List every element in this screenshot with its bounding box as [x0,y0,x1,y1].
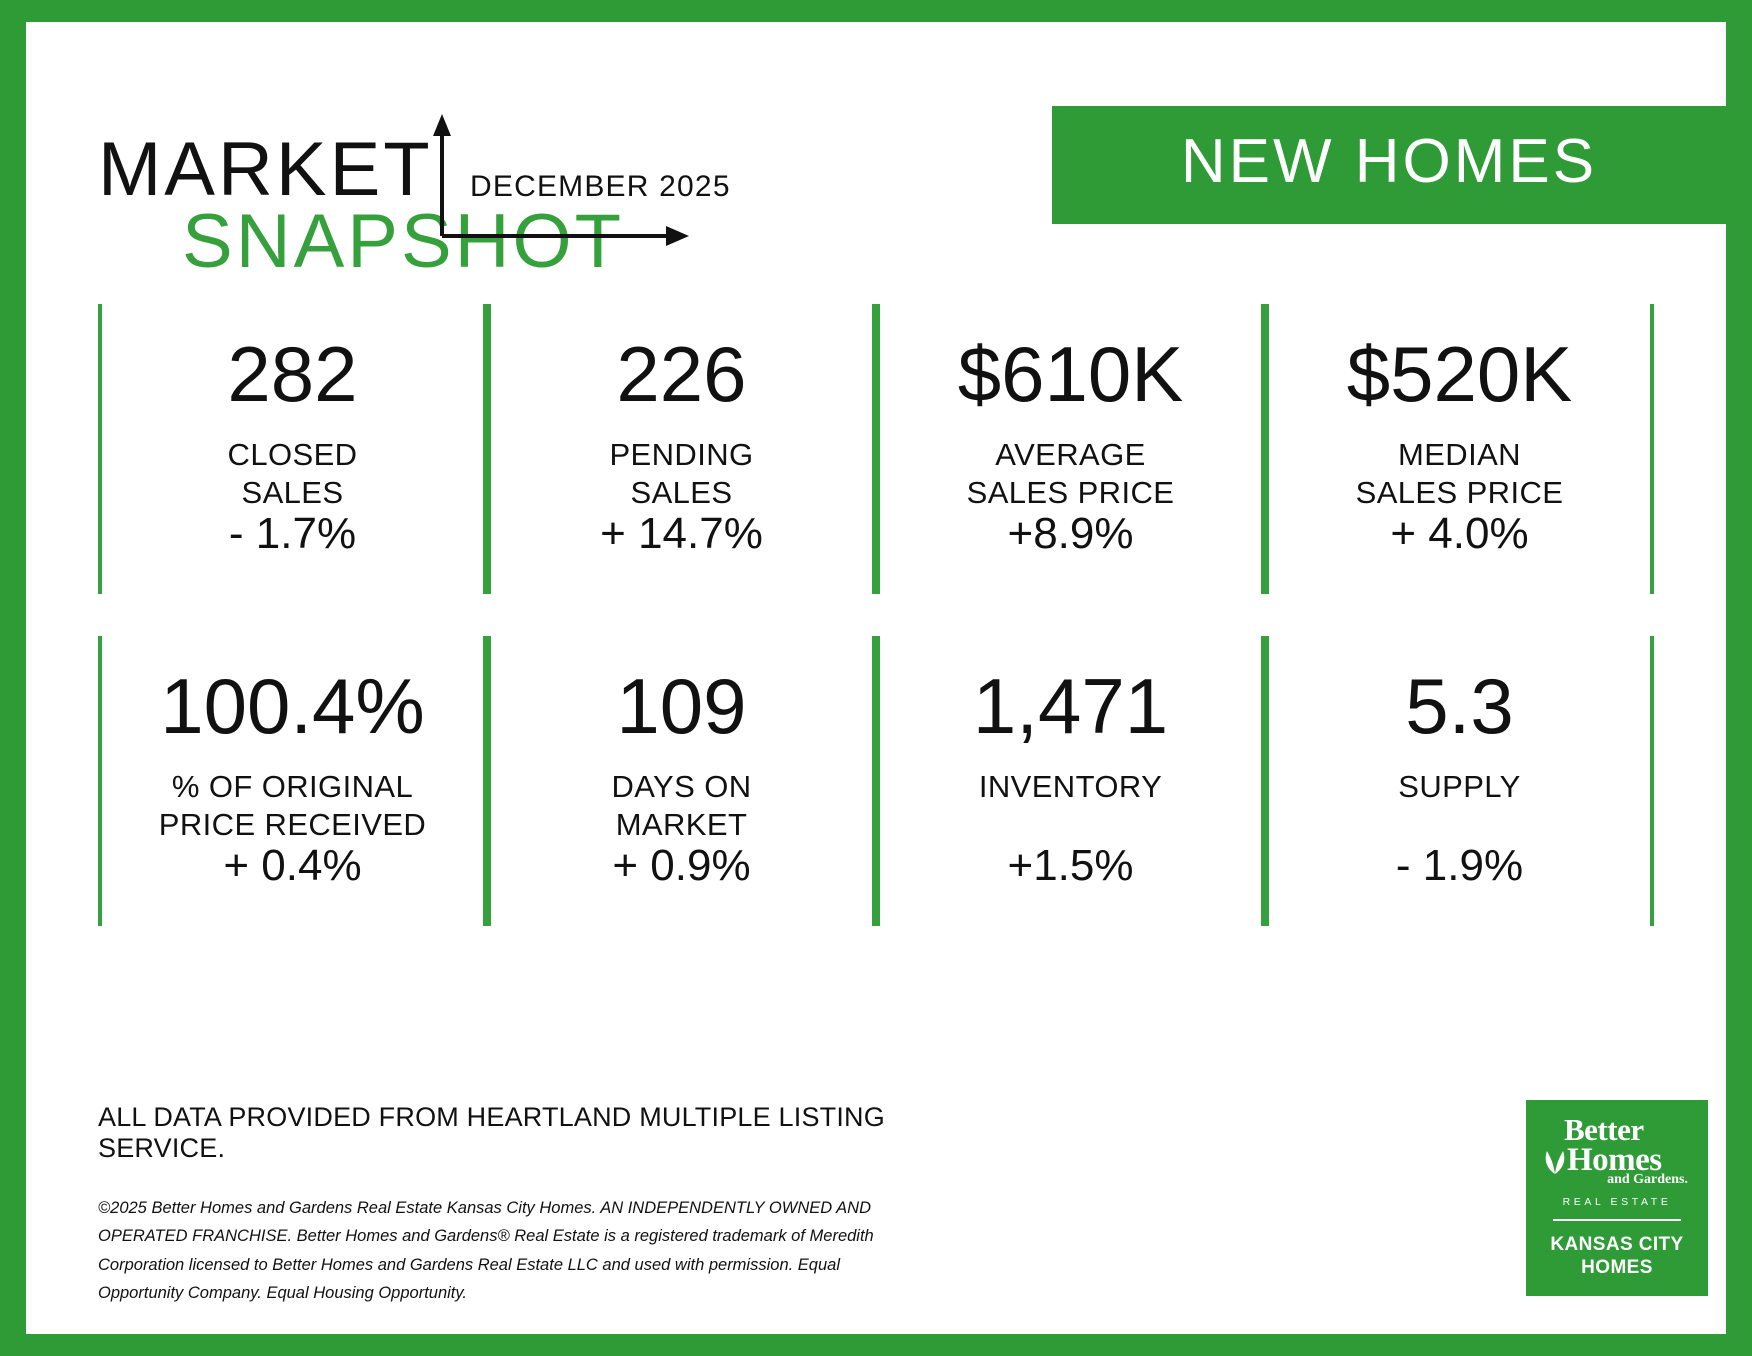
stat-value: 109 [616,660,746,752]
stat-label-line2: PRICE RECEIVED [159,807,426,842]
stat-label: MEDIAN SALES PRICE [1356,436,1564,512]
logo-office-line1: KANSAS CITY [1550,1234,1683,1255]
stat-label: % OF ORIGINAL PRICE RECEIVED [159,768,426,844]
stat-value: 5.3 [1405,660,1513,752]
stat-delta: + 0.4% [223,844,361,888]
stat-value: 1,471 [973,660,1168,752]
stat-label: INVENTORY [979,768,1162,806]
stat-delta: + 4.0% [1390,512,1528,556]
stats-grid: 282 CLOSED SALES - 1.7% 226 PENDING SALE… [98,304,1654,926]
stat-value: $520K [1347,328,1573,420]
logo-office-name: KANSAS CITY HOMES [1550,1233,1683,1279]
snapshot-date: DECEMBER 2025 [470,170,731,204]
stat-label: DAYS ON MARKET [611,768,751,844]
brand-logo: Better Homes and Gardens. REAL ESTATE KA… [1526,1100,1708,1296]
stat-label: AVERAGE SALES PRICE [967,436,1175,512]
segment-banner: NEW HOMES [1052,106,1726,224]
legal-disclaimer: ©2025 Better Homes and Gardens Real Esta… [98,1194,888,1308]
stat-label-line1: % OF ORIGINAL [172,769,413,804]
header: MARKET SNAPSHOT DECEMBER 2025 NEW HOMES [26,22,1726,302]
stat-supply: 5.3 SUPPLY - 1.9% [1265,636,1654,926]
stat-pending-sales: 226 PENDING SALES + 14.7% [487,304,876,594]
poster-sheet: MARKET SNAPSHOT DECEMBER 2025 NEW HOMES … [26,22,1726,1334]
footer: ALL DATA PROVIDED FROM HEARTLAND MULTIPL… [98,1102,998,1308]
stat-value: 226 [616,328,746,420]
logo-divider [1553,1219,1681,1221]
logo-word-gardens: and Gardens. [1607,1173,1688,1187]
stat-label-line1: DAYS ON [611,769,751,804]
stat-delta: +8.9% [1008,512,1134,556]
stat-delta: + 14.7% [600,512,763,556]
stats-row-1: 282 CLOSED SALES - 1.7% 226 PENDING SALE… [98,304,1654,594]
stat-value: 100.4% [160,660,425,752]
stat-label-line2: SALES PRICE [1356,475,1564,510]
stats-row-2: 100.4% % OF ORIGINAL PRICE RECEIVED + 0.… [98,636,1654,926]
segment-banner-label: NEW HOMES [1181,131,1597,199]
logo-homes-row: Homes [1544,1146,1662,1176]
stat-inventory: 1,471 INVENTORY +1.5% [876,636,1265,926]
stat-label-line1: MEDIAN [1398,437,1521,472]
title-block: MARKET SNAPSHOT DECEMBER 2025 [72,112,832,302]
stat-label-line1: PENDING [609,437,753,472]
stat-label: SUPPLY [1398,768,1520,806]
stat-label: CLOSED SALES [228,436,358,512]
stat-delta: + 0.9% [612,844,750,888]
page-title-line1: MARKET [98,132,433,208]
stat-average-sales-price: $610K AVERAGE SALES PRICE +8.9% [876,304,1265,594]
stat-label-line2: SALES [631,475,733,510]
stat-label: PENDING SALES [609,436,753,512]
logo-office-line2: HOMES [1581,1257,1653,1278]
stat-percent-of-original-price-received: 100.4% % OF ORIGINAL PRICE RECEIVED + 0.… [98,636,487,926]
leaf-icon [1544,1148,1566,1174]
stat-closed-sales: 282 CLOSED SALES - 1.7% [98,304,487,594]
stat-label-line1: AVERAGE [995,437,1145,472]
stat-value: 282 [227,328,357,420]
logo-real-estate-line: REAL ESTATE [1563,1196,1672,1208]
data-source-note: ALL DATA PROVIDED FROM HEARTLAND MULTIPL… [98,1102,998,1164]
logo-word-homes: Homes [1567,1146,1662,1176]
poster-frame: MARKET SNAPSHOT DECEMBER 2025 NEW HOMES … [0,0,1752,1356]
stat-label-line1: CLOSED [228,437,358,472]
stat-median-sales-price: $520K MEDIAN SALES PRICE + 4.0% [1265,304,1654,594]
logo-word-better: Better [1564,1116,1644,1145]
stat-label-line2: MARKET [616,807,748,842]
stat-delta: +1.5% [1008,844,1134,888]
stat-days-on-market: 109 DAYS ON MARKET + 0.9% [487,636,876,926]
stat-delta: - 1.7% [229,512,356,556]
stat-label-line2: SALES [242,475,344,510]
page-title-line2: SNAPSHOT [182,204,624,280]
stat-value: $610K [958,328,1184,420]
stat-delta: - 1.9% [1396,844,1523,888]
stat-label-line2: SALES PRICE [967,475,1175,510]
